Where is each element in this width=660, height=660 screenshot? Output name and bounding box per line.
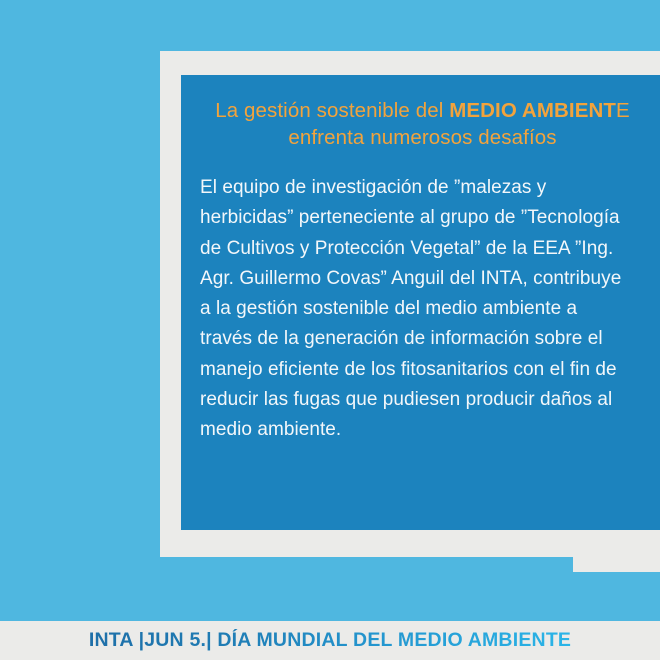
headline-part-1: La gestión sostenible del (215, 99, 449, 122)
page-title: La gestión sostenible del MEDIO AMBIENTE… (181, 75, 660, 151)
decorative-white-tab (573, 545, 660, 572)
body-paragraph: El equipo de investigación de ”malezas y… (181, 151, 660, 446)
footer-caption: INTA |JUN 5.| DÍA MUNDIAL DEL MEDIO AMBI… (89, 629, 571, 652)
poster-canvas: La gestión sostenible del MEDIO AMBIENTE… (0, 0, 660, 660)
footer-bar: INTA |JUN 5.| DÍA MUNDIAL DEL MEDIO AMBI… (0, 621, 660, 660)
content-card: La gestión sostenible del MEDIO AMBIENTE… (181, 75, 660, 530)
headline-emphasis: MEDIO AMBIENT (449, 99, 616, 122)
